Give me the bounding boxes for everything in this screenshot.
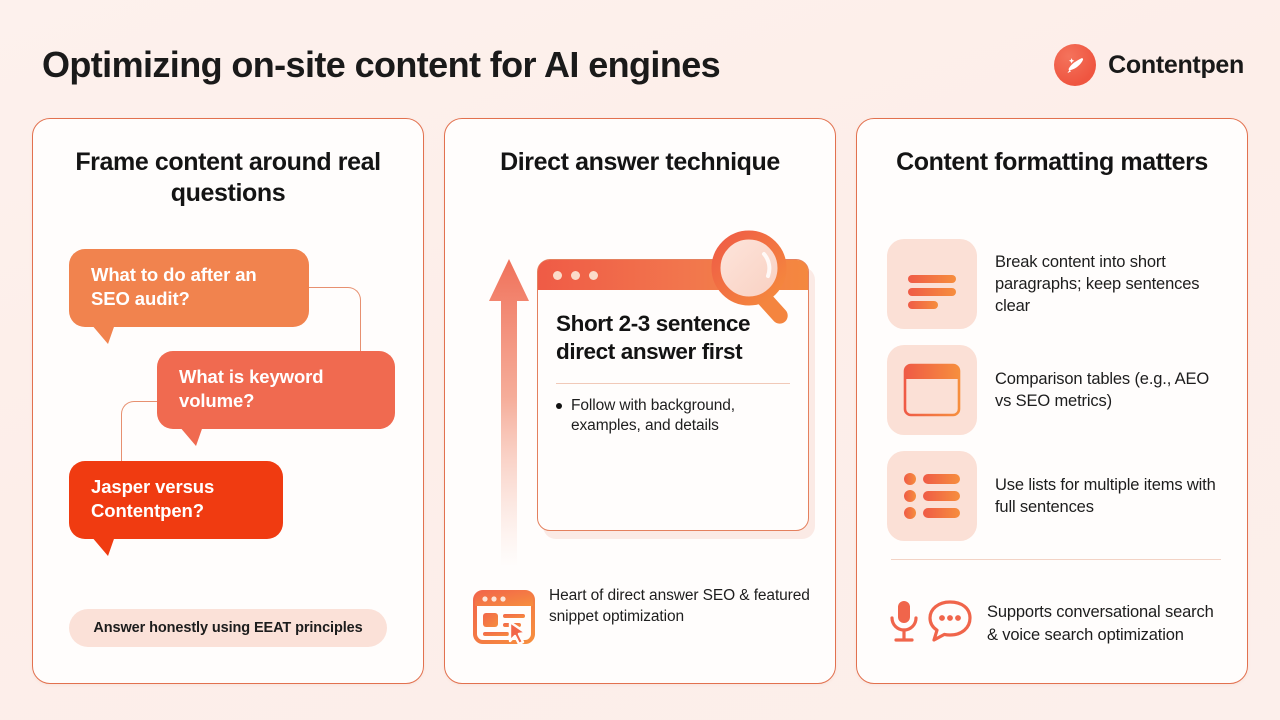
window-dot-icon	[571, 271, 580, 280]
question-bubble-text: What to do after an SEO audit?	[91, 263, 289, 312]
eeat-pill: Answer honestly using EEAT principles	[69, 609, 387, 647]
content-divider	[556, 383, 790, 384]
follow-up-bullet: Follow with background, examples, and de…	[556, 396, 790, 436]
bubble-connector-1	[301, 287, 361, 361]
list-item-text: Comparison tables (e.g., AEO vs SEO metr…	[995, 368, 1225, 413]
card-title: Direct answer technique	[469, 147, 811, 178]
webpage-cursor-icon	[473, 586, 535, 653]
follow-up-bullet-text: Follow with background, examples, and de…	[571, 396, 790, 436]
question-bubble-text: What is keyword volume?	[179, 365, 375, 414]
direct-answer-footnote-text: Heart of direct answer SEO & featured sn…	[549, 586, 811, 627]
card-title: Content formatting matters	[881, 147, 1223, 178]
brand-logo: Contentpen	[1054, 44, 1244, 86]
microphone-icon	[887, 598, 921, 649]
list-item: Use lists for multiple items with full s…	[887, 443, 1225, 549]
card-content-formatting: Content formatting matters	[856, 118, 1248, 684]
list-item-text: Break content into short paragraphs; kee…	[995, 251, 1225, 318]
bullet-list-icon	[887, 451, 977, 541]
card-frame-content: Frame content around real questions What…	[32, 118, 424, 684]
direct-answer-footnote: Heart of direct answer SEO & featured sn…	[473, 586, 811, 653]
question-bubble: What is keyword volume?	[157, 351, 395, 429]
voice-icon-group	[887, 598, 973, 649]
formatting-feature-list: Break content into short paragraphs; kee…	[887, 231, 1225, 560]
pen-sparkle-icon	[1054, 44, 1096, 86]
list-item: Break content into short paragraphs; kee…	[887, 231, 1225, 337]
paragraph-lines-icon	[887, 239, 977, 329]
voice-search-text: Supports conversational search & voice s…	[987, 601, 1225, 646]
brand-name: Contentpen	[1108, 51, 1244, 80]
list-item: Comparison tables (e.g., AEO vs SEO metr…	[887, 337, 1225, 443]
cards-container: Frame content around real questions What…	[32, 118, 1248, 684]
page-header: Optimizing on-site content for AI engine…	[42, 30, 1244, 100]
comparison-table-icon	[887, 345, 977, 435]
window-dot-icon	[553, 271, 562, 280]
question-bubbles: What to do after an SEO audit? What is k…	[33, 249, 423, 599]
question-bubble: Jasper versus Contentpen?	[69, 461, 283, 539]
card-title: Frame content around real questions	[57, 147, 399, 208]
card-direct-answer: Direct answer technique S	[444, 118, 836, 684]
window-dot-icon	[589, 271, 598, 280]
page-title: Optimizing on-site content for AI engine…	[42, 45, 720, 85]
magnifying-glass-icon	[707, 227, 807, 332]
chat-dots-icon	[927, 599, 973, 648]
arrow-up-icon	[487, 257, 531, 567]
question-bubble-text: Jasper versus Contentpen?	[91, 475, 263, 524]
voice-search-note: Supports conversational search & voice s…	[887, 598, 1225, 649]
question-bubble: What to do after an SEO audit?	[69, 249, 309, 327]
section-divider	[891, 559, 1221, 560]
bullet-dot-icon	[556, 403, 562, 409]
list-item-text: Use lists for multiple items with full s…	[995, 474, 1225, 519]
